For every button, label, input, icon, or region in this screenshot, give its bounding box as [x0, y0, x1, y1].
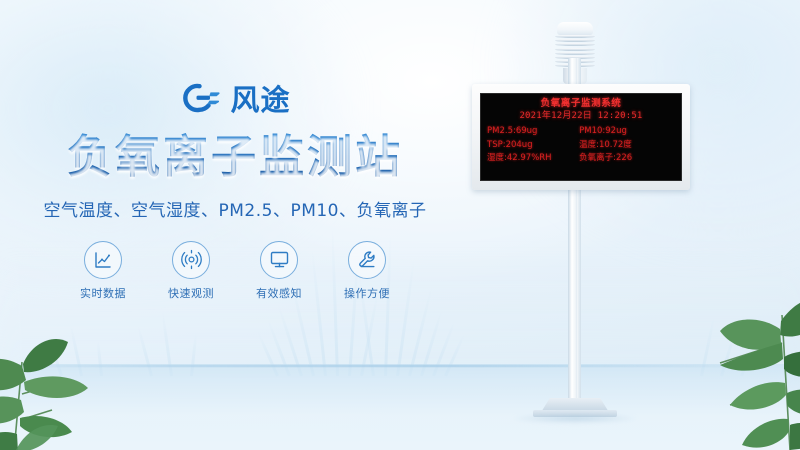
feature-item-1[interactable]: 实时数据	[71, 241, 135, 301]
sensor-louver-fin	[555, 35, 595, 38]
feature-item-2[interactable]: 快速观测	[159, 241, 223, 301]
line-chart-icon	[84, 241, 122, 279]
radar-observe-icon	[172, 241, 210, 279]
led-datetime: 2021年12月22日 12:20:51	[487, 110, 675, 123]
sensor-louver-fin	[555, 43, 595, 46]
hero-text-block: 风途 负氧离子监测站 空气温度、空气湿度、PM2.5、PM10、负氧离子 实时数…	[0, 78, 470, 301]
led-readings-grid: PM2.5:69ugPM10:92ugTSP:204ug温度:10.72度湿度:…	[487, 125, 675, 165]
led-reading: TSP:204ug	[487, 139, 579, 152]
sensor-cap	[557, 22, 593, 35]
sensor-louver-fin	[555, 48, 595, 51]
feature-item-3[interactable]: 有效感知	[247, 241, 311, 301]
led-reading: PM2.5:69ug	[487, 125, 579, 138]
brand-name: 风途	[230, 86, 290, 115]
fengtu-logo-icon	[179, 81, 221, 119]
led-screen: 负氧离子监测系统 2021年12月22日 12:20:51 PM2.5:69ug…	[480, 93, 682, 181]
page-title: 负氧离子监测站	[0, 133, 470, 182]
page-subtitle: 空气温度、空气湿度、PM2.5、PM10、负氧离子	[0, 196, 470, 221]
led-reading: 温度:10.72度	[579, 139, 675, 152]
pole-base-icon	[540, 398, 610, 414]
feature-label: 有效感知	[247, 285, 311, 301]
feature-label: 操作方便	[335, 285, 399, 301]
brand-logo: 风途	[0, 78, 470, 122]
feature-item-4[interactable]: 操作方便	[335, 241, 399, 301]
led-title: 负氧离子监测系统	[487, 98, 675, 110]
feature-label: 实时数据	[71, 285, 135, 301]
sensor-louver-fin	[555, 39, 595, 42]
feature-list: 实时数据快速观测有效感知操作方便	[0, 241, 470, 301]
sensor-louver-fin	[555, 52, 595, 55]
ground-plane	[0, 364, 800, 450]
led-reading: PM10:92ug	[579, 125, 675, 138]
wrench-icon	[348, 241, 386, 279]
monitor-icon	[260, 241, 298, 279]
led-reading: 湿度:42.97%RH	[487, 152, 579, 165]
ground-horizon-line	[0, 365, 800, 367]
feature-label: 快速观测	[159, 285, 223, 301]
led-display-panel[interactable]: 负氧离子监测系统 2021年12月22日 12:20:51 PM2.5:69ug…	[472, 84, 690, 190]
promo-banner: 风途 负氧离子监测站 空气温度、空气湿度、PM2.5、PM10、负氧离子 实时数…	[0, 0, 800, 450]
led-reading: 负氧离子:226	[579, 152, 675, 165]
